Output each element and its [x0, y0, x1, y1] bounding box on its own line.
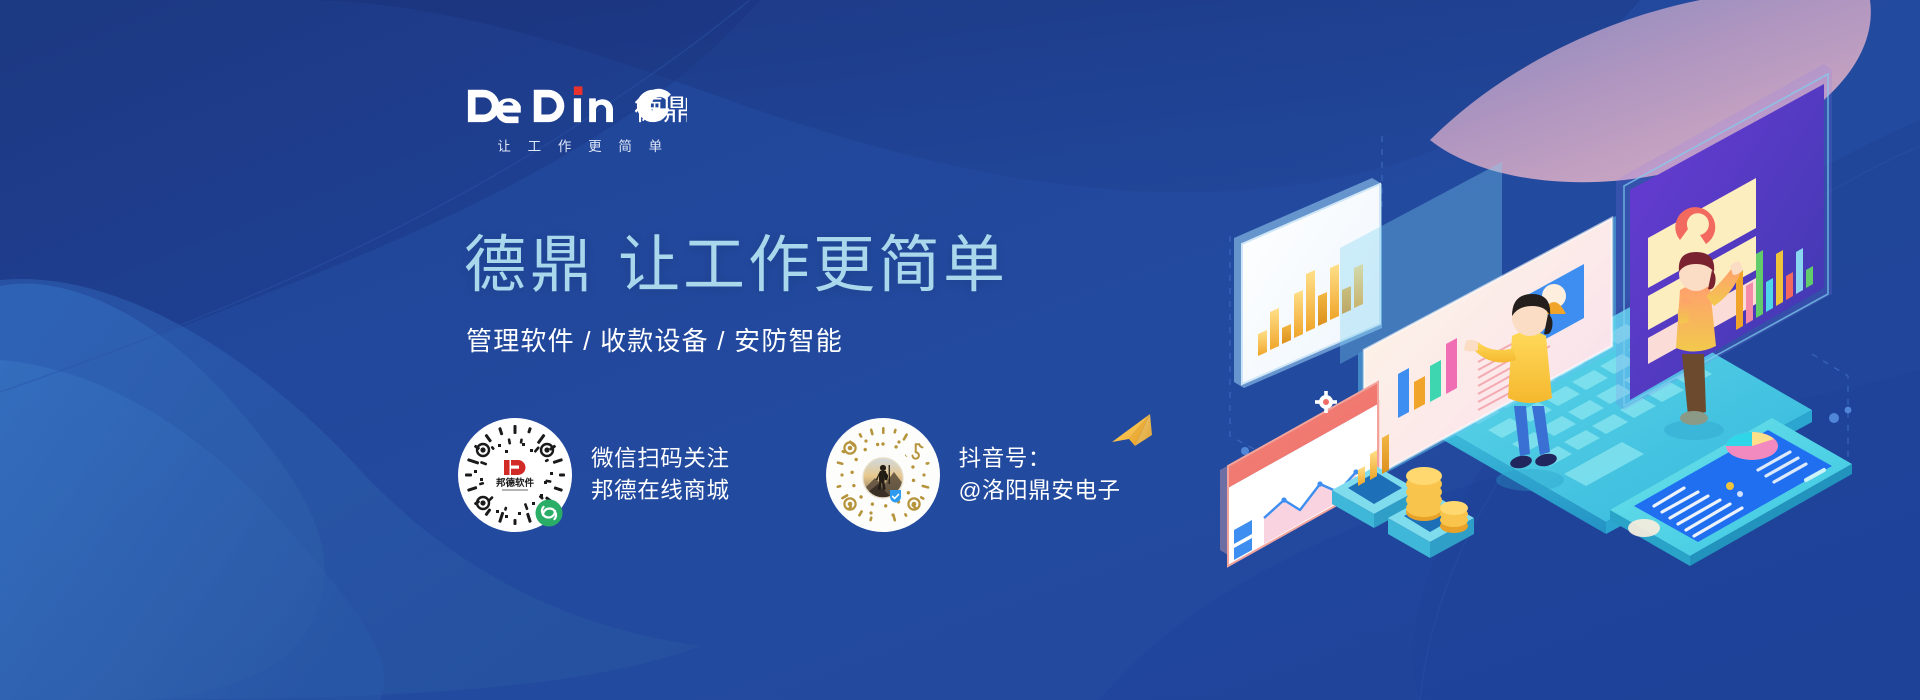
wechat-miniprogram-badge	[536, 500, 563, 527]
douyin-qr-code[interactable]	[826, 418, 940, 532]
brand-logo[interactable]: 德鼎 让 工 作 更 简 单	[466, 84, 696, 155]
logo-accent-dot	[574, 86, 583, 95]
wechat-qr-graphic: 邦德软件	[458, 418, 572, 532]
red-analytics-card	[1220, 382, 1380, 566]
promotional-banner: 德鼎 让 工 作 更 简 单 德鼎让工作更简单 管理软件 / 收款设备 / 安防…	[0, 0, 1920, 700]
page-title: 德鼎让工作更简单	[464, 235, 1008, 297]
douyin-qr-graphic	[826, 418, 940, 532]
logo-tagline: 让 工 作 更 简 单	[466, 135, 696, 155]
headline-brand: 德鼎	[464, 231, 596, 300]
douyin-caption-line2: @洛阳鼎安电子	[959, 475, 1121, 507]
wechat-qr-code[interactable]: 邦德软件	[458, 418, 572, 532]
qr-code-row: 邦德软件 微信扫码关注 邦德在线商城	[458, 418, 1121, 532]
wechat-qr-caption: 微信扫码关注 邦德在线商城	[591, 443, 730, 507]
douyin-qr-caption: 抖音号： @洛阳鼎安电子	[959, 443, 1121, 507]
qr-item-douyin[interactable]: 抖音号： @洛阳鼎安电子	[826, 418, 1121, 532]
logo-wordmark: 德鼎	[466, 84, 687, 126]
wechat-caption-line1: 微信扫码关注	[591, 443, 730, 475]
verified-badge	[890, 490, 901, 503]
paper-plane-icon	[1108, 408, 1164, 456]
svg-text:德鼎: 德鼎	[634, 92, 687, 126]
svg-text:邦德软件: 邦德软件	[496, 477, 535, 489]
douyin-caption-line1: 抖音号：	[959, 443, 1121, 475]
qr-item-wechat[interactable]: 邦德软件 微信扫码关注 邦德在线商城	[458, 418, 730, 532]
page-subtitle: 管理软件 / 收款设备 / 安防智能	[466, 328, 843, 354]
wechat-caption-line2: 邦德在线商城	[591, 475, 730, 507]
douyin-music-note-icon	[904, 438, 926, 460]
headline-rest: 让工作更简单	[618, 231, 1008, 300]
isometric-data-analytics-illustration	[1212, 118, 1872, 558]
